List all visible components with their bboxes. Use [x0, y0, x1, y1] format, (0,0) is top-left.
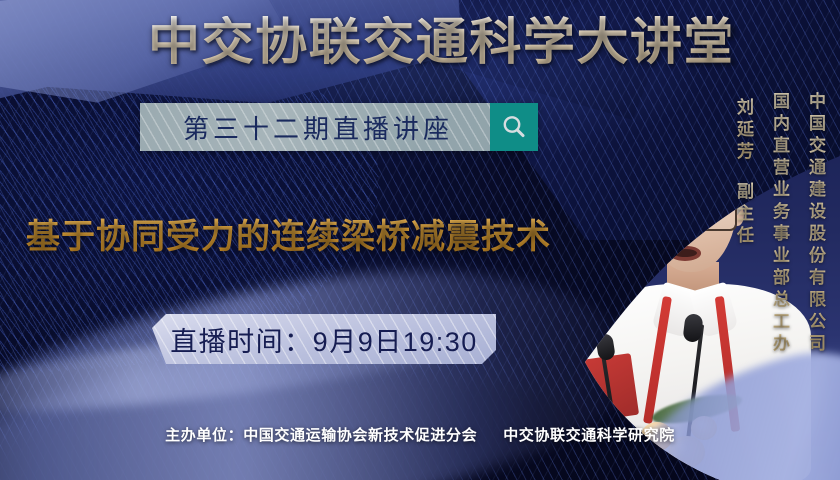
speaker-role: 副主任 — [731, 182, 756, 248]
footer-organizers: 主办单位：中国交通运输协会新技术促进分会中交协联交通科学研究院 — [0, 424, 840, 445]
lecture-title: 基于协同受力的连续梁桥减震技术 — [26, 209, 551, 258]
main-title: 中交协联交通科学大讲堂 — [148, 16, 730, 69]
poster-canvas: 中交协联交通科学大讲堂 中交协联交通科学大讲堂 第三十二期直播讲座 基于协同受力… — [0, 0, 840, 480]
footer-org-2: 中交协联交通科学研究院 — [503, 427, 675, 444]
subtitle-text: 第三十二期直播讲座 — [140, 103, 490, 151]
broadcast-time-text: 直播时间：9月9日19:30 — [170, 320, 478, 359]
subtitle-band: 第三十二期直播讲座 — [140, 103, 538, 151]
footer-prefix: 主办单位： — [165, 427, 243, 444]
search-icon — [500, 113, 528, 141]
speaker-name: 刘延芳 — [731, 98, 756, 164]
speaker-department: 国内直营业务事业部总工办 — [767, 92, 792, 356]
broadcast-time-badge: 直播时间：9月9日19:30 — [152, 314, 496, 364]
search-button[interactable] — [490, 103, 538, 151]
speaker-organization: 中国交通建设股份有限公司 — [803, 92, 828, 356]
footer-org-1: 中国交通运输协会新技术促进分会 — [243, 427, 477, 444]
